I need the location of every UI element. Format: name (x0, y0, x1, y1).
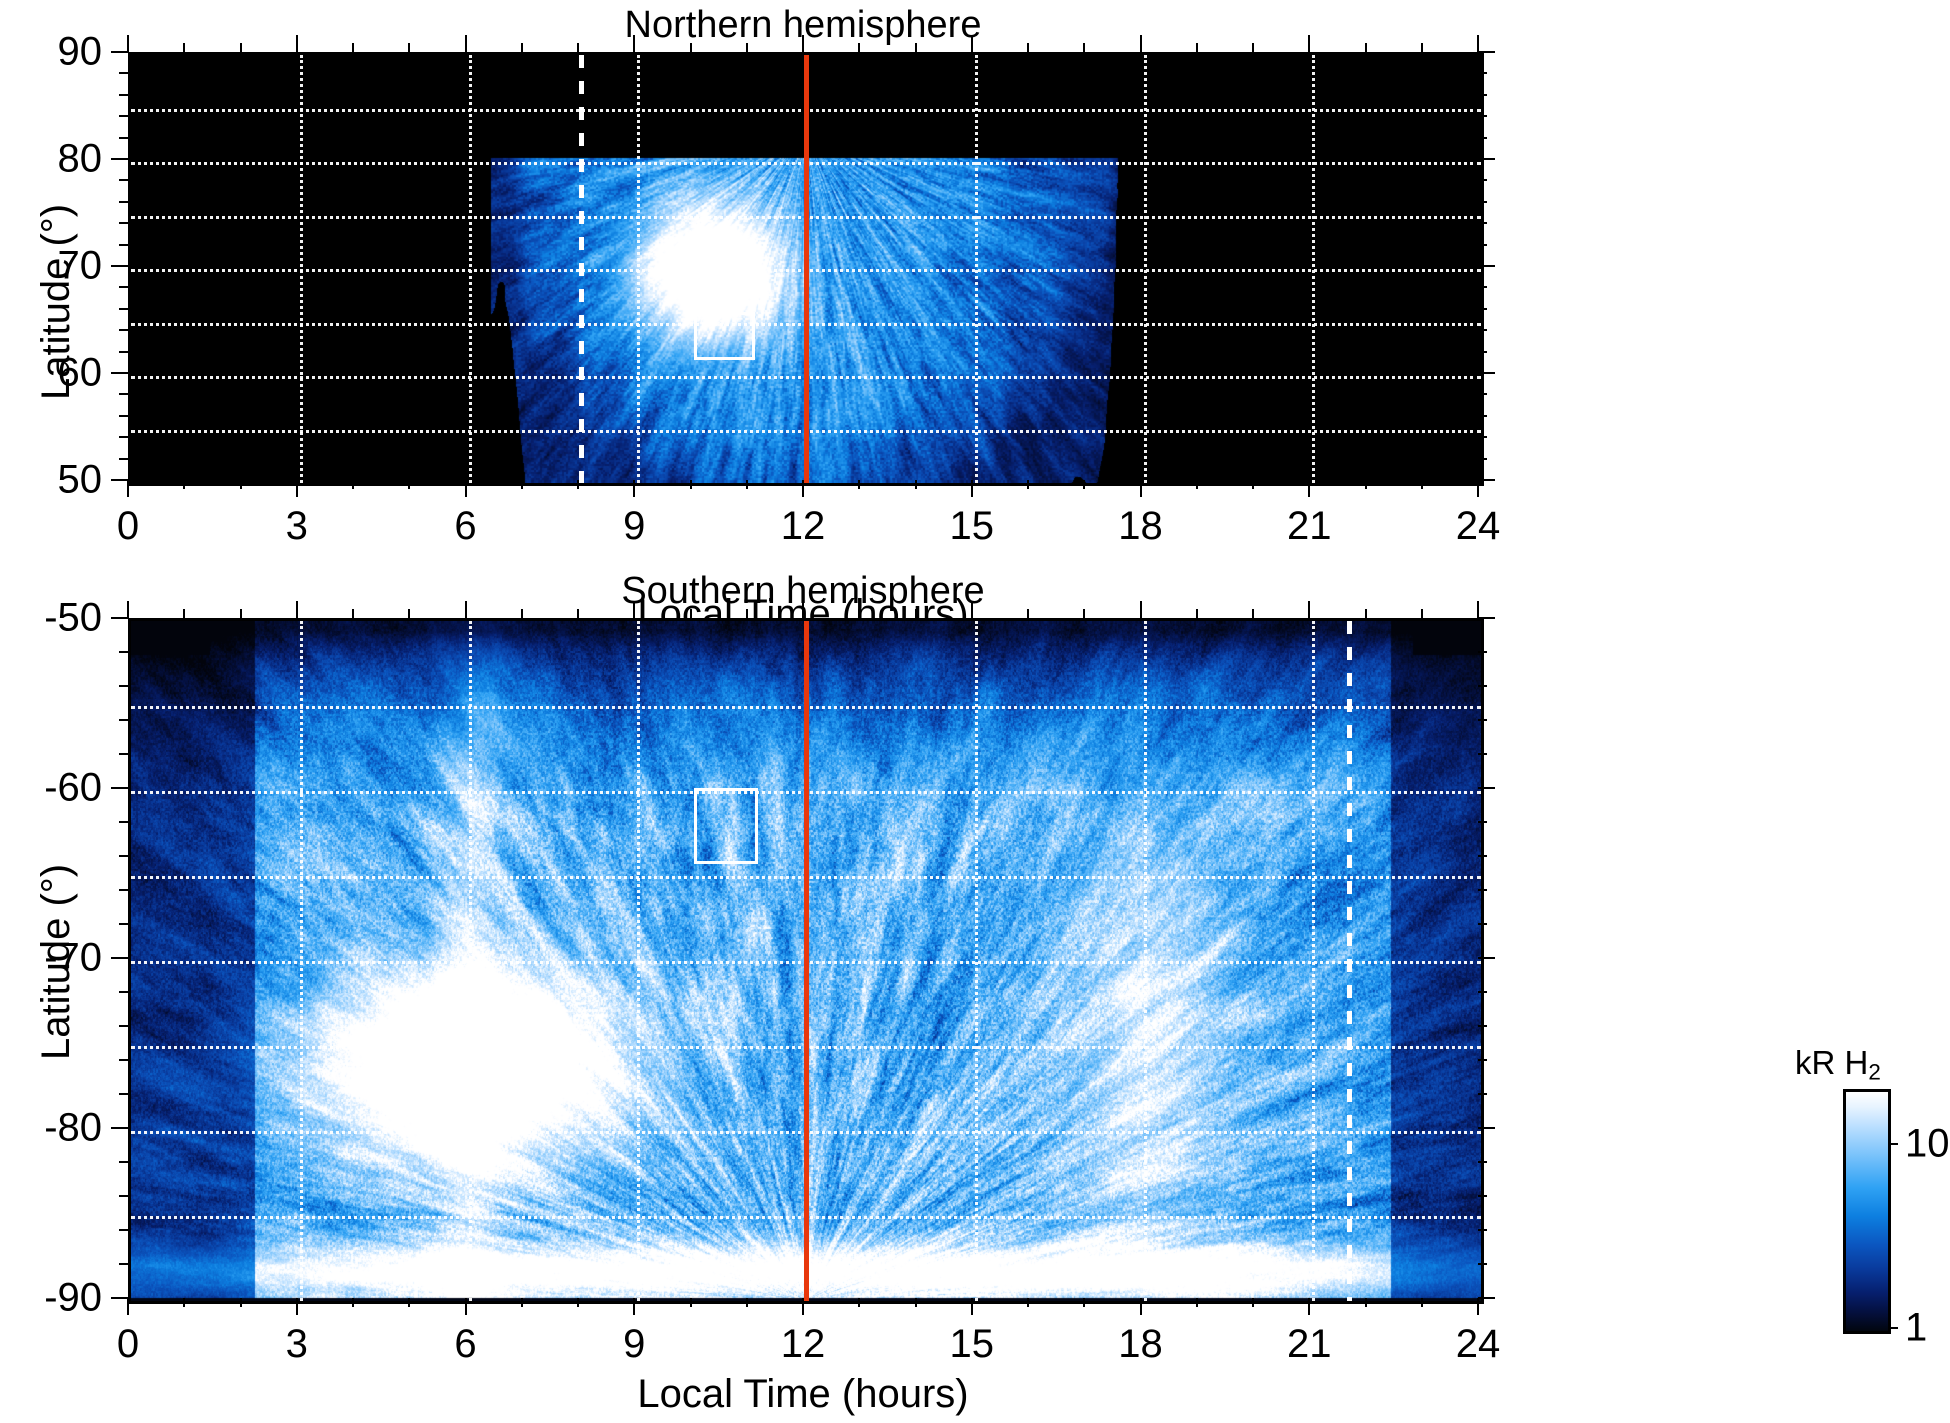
x-axis-minor-tick (1365, 1298, 1367, 1307)
x-axis-minor-tick (240, 43, 242, 52)
x-axis-minor-tick (408, 1298, 410, 1307)
colorbar[interactable] (1843, 1089, 1891, 1334)
x-axis-minor-tick (1421, 1298, 1423, 1307)
x-axis-minor-tick (352, 1298, 354, 1307)
y-axis-minor-tick (1478, 308, 1487, 310)
north-plot-area[interactable] (128, 52, 1484, 486)
x-axis-minor-tick (408, 609, 410, 618)
y-axis-minor-tick (119, 308, 128, 310)
y-axis-minor-tick (119, 436, 128, 438)
y-axis-minor-tick (1478, 1263, 1487, 1265)
y-axis-minor-tick (1478, 265, 1487, 267)
y-axis-minor-tick (119, 1161, 128, 1163)
south-plot-area[interactable] (128, 618, 1484, 1304)
y-axis-minor-tick (1478, 329, 1487, 331)
x-axis-minor-tick (1083, 480, 1085, 489)
x-axis-minor-tick (240, 609, 242, 618)
y-axis-minor-tick (119, 787, 128, 789)
x-axis-minor-tick (1421, 609, 1423, 618)
x-axis-tick-label: 18 (1118, 504, 1163, 549)
x-axis-minor-tick (1365, 609, 1367, 618)
y-axis-minor-tick (119, 115, 128, 117)
x-axis-minor-tick (633, 1298, 635, 1307)
x-axis-minor-tick (521, 480, 523, 489)
x-axis-minor-tick (915, 609, 917, 618)
x-axis-minor-tick (127, 480, 129, 489)
x-axis-minor-tick (183, 609, 185, 618)
x-axis-minor-tick (1252, 43, 1254, 52)
x-axis-tick-label: 9 (623, 1322, 645, 1367)
y-axis-tick-label: 50 (18, 458, 102, 503)
x-axis-minor-tick (1083, 43, 1085, 52)
y-axis-minor-tick (1478, 685, 1487, 687)
x-axis-tick-label: 12 (781, 1322, 826, 1367)
y-axis-minor-tick (1478, 651, 1487, 653)
x-axis-minor-tick (1027, 609, 1029, 618)
y-axis-minor-tick (1478, 1229, 1487, 1231)
y-axis-minor-tick (119, 479, 128, 481)
x-axis-minor-tick (1027, 43, 1029, 52)
y-axis-minor-tick (1478, 351, 1487, 353)
x-axis-minor-tick (1252, 480, 1254, 489)
x-axis-minor-tick (802, 43, 804, 52)
x-axis-minor-tick (296, 480, 298, 489)
y-axis-minor-tick (119, 415, 128, 417)
x-axis-minor-tick (183, 43, 185, 52)
x-axis-minor-tick (746, 480, 748, 489)
colorbar-tick-label: 10 (1905, 1122, 1950, 1167)
x-axis-tick-label: 6 (454, 1322, 476, 1367)
y-axis-minor-tick (1478, 1059, 1487, 1061)
y-axis-minor-tick (1478, 393, 1487, 395)
y-axis-tick-label: 80 (18, 137, 102, 182)
x-axis-minor-tick (971, 43, 973, 52)
y-axis-minor-tick (1478, 957, 1487, 959)
y-axis-minor-tick (1478, 222, 1487, 224)
y-axis-minor-tick (119, 179, 128, 181)
x-axis-minor-tick (352, 43, 354, 52)
y-axis-minor-tick (1478, 436, 1487, 438)
y-axis-minor-tick (119, 685, 128, 687)
x-axis-minor-tick (352, 609, 354, 618)
x-axis-minor-tick (690, 480, 692, 489)
x-axis-minor-tick (465, 43, 467, 52)
x-axis-minor-tick (1308, 480, 1310, 489)
y-axis-tick-label: 60 (18, 351, 102, 396)
y-axis-minor-tick (1478, 1127, 1487, 1129)
x-axis-minor-tick (521, 43, 523, 52)
x-axis-tick-label: 12 (781, 504, 826, 549)
y-axis-minor-tick (1478, 1195, 1487, 1197)
x-axis-minor-tick (1196, 43, 1198, 52)
y-axis-minor-tick (1478, 244, 1487, 246)
x-axis-minor-tick (802, 609, 804, 618)
y-axis-minor-tick (1478, 991, 1487, 993)
y-axis-minor-tick (119, 222, 128, 224)
x-axis-minor-tick (577, 43, 579, 52)
y-axis-minor-tick (1478, 855, 1487, 857)
x-axis-minor-tick (746, 609, 748, 618)
x-axis-minor-tick (1252, 609, 1254, 618)
y-axis-minor-tick (119, 923, 128, 925)
x-axis-tick-label: 0 (117, 1322, 139, 1367)
y-axis-minor-tick (119, 201, 128, 203)
x-axis-minor-tick (1140, 1298, 1142, 1307)
y-axis-minor-tick (119, 1059, 128, 1061)
y-axis-minor-tick (1478, 51, 1487, 53)
y-axis-minor-tick (1478, 821, 1487, 823)
y-axis-tick-label: -90 (18, 1276, 102, 1321)
y-axis-minor-tick (119, 1025, 128, 1027)
y-axis-tick-label: -60 (18, 766, 102, 811)
y-axis-minor-tick (119, 1093, 128, 1095)
y-axis-minor-tick (119, 351, 128, 353)
x-axis-minor-tick (858, 609, 860, 618)
y-axis-minor-tick (1478, 923, 1487, 925)
x-axis-minor-tick (183, 1298, 185, 1307)
x-axis-minor-tick (183, 480, 185, 489)
y-axis-minor-tick (1478, 479, 1487, 481)
x-axis-minor-tick (915, 1298, 917, 1307)
y-axis-minor-tick (1478, 115, 1487, 117)
y-axis-tick-label: -70 (18, 936, 102, 981)
y-axis-minor-tick (1478, 719, 1487, 721)
colorbar-tick (1888, 1327, 1898, 1329)
dashed-marker-line (579, 55, 584, 483)
x-axis-minor-tick (633, 609, 635, 618)
noon-marker-line (804, 621, 809, 1301)
x-axis-minor-tick (1308, 609, 1310, 618)
x-axis-minor-tick (521, 1298, 523, 1307)
x-axis-tick-label: 0 (117, 504, 139, 549)
x-axis-minor-tick (971, 480, 973, 489)
y-axis-minor-tick (119, 329, 128, 331)
x-axis-minor-tick (1308, 1298, 1310, 1307)
y-axis-minor-tick (1478, 889, 1487, 891)
figure-root: Northern hemisphere Local Time (hours) L… (0, 0, 1950, 1423)
x-axis-minor-tick (1196, 609, 1198, 618)
y-axis-minor-tick (119, 158, 128, 160)
y-axis-minor-tick (1478, 286, 1487, 288)
x-axis-tick-label: 21 (1287, 504, 1332, 549)
y-axis-minor-tick (1478, 372, 1487, 374)
x-axis-minor-tick (746, 1298, 748, 1307)
y-axis-minor-tick (119, 651, 128, 653)
y-axis-minor-tick (119, 265, 128, 267)
y-axis-minor-tick (119, 393, 128, 395)
x-axis-minor-tick (971, 609, 973, 618)
y-axis-minor-tick (1478, 72, 1487, 74)
y-axis-minor-tick (119, 1229, 128, 1231)
region-of-interest-box (694, 312, 756, 360)
x-axis-minor-tick (240, 1298, 242, 1307)
y-axis-minor-tick (1478, 753, 1487, 755)
colorbar-tick (1888, 1143, 1898, 1145)
y-axis-tick-label: 70 (18, 244, 102, 289)
y-axis-minor-tick (119, 889, 128, 891)
y-axis-minor-tick (119, 991, 128, 993)
x-axis-tick-label: 6 (454, 504, 476, 549)
y-axis-minor-tick (1478, 787, 1487, 789)
y-axis-minor-tick (119, 719, 128, 721)
x-axis-minor-tick (352, 480, 354, 489)
x-axis-minor-tick (1140, 43, 1142, 52)
y-axis-minor-tick (1478, 94, 1487, 96)
y-axis-tick-label: 90 (18, 30, 102, 75)
x-axis-minor-tick (858, 480, 860, 489)
x-axis-minor-tick (1083, 1298, 1085, 1307)
y-axis-minor-tick (1478, 1025, 1487, 1027)
x-axis-tick-label: 9 (623, 504, 645, 549)
y-axis-tick-label: -80 (18, 1106, 102, 1151)
x-axis-minor-tick (1365, 43, 1367, 52)
x-axis-minor-tick (802, 480, 804, 489)
x-axis-minor-tick (465, 1298, 467, 1307)
y-axis-minor-tick (1478, 458, 1487, 460)
x-axis-minor-tick (858, 43, 860, 52)
x-axis-tick-label: 3 (286, 1322, 308, 1367)
x-axis-minor-tick (1477, 1298, 1479, 1307)
colorbar-title-subscript: 2 (1868, 1060, 1880, 1085)
x-axis-tick-label: 18 (1118, 1322, 1163, 1367)
x-axis-minor-tick (915, 43, 917, 52)
y-axis-minor-tick (119, 137, 128, 139)
x-axis-minor-tick (240, 480, 242, 489)
region-of-interest-box (694, 788, 759, 865)
y-axis-minor-tick (119, 372, 128, 374)
x-axis-minor-tick (1027, 1298, 1029, 1307)
y-axis-minor-tick (119, 1297, 128, 1299)
y-axis-minor-tick (119, 1195, 128, 1197)
y-axis-minor-tick (1478, 158, 1487, 160)
x-axis-minor-tick (1196, 1298, 1198, 1307)
y-axis-minor-tick (1478, 137, 1487, 139)
south-xaxis-title: Local Time (hours) (128, 1372, 1478, 1417)
x-axis-tick-label: 15 (950, 1322, 995, 1367)
y-axis-minor-tick (119, 51, 128, 53)
x-axis-minor-tick (802, 1298, 804, 1307)
y-axis-minor-tick (119, 94, 128, 96)
y-axis-minor-tick (119, 244, 128, 246)
x-axis-minor-tick (577, 1298, 579, 1307)
x-axis-minor-tick (1252, 1298, 1254, 1307)
x-axis-minor-tick (1421, 480, 1423, 489)
x-axis-minor-tick (1365, 480, 1367, 489)
y-axis-tick-label: -50 (18, 596, 102, 641)
y-axis-minor-tick (1478, 617, 1487, 619)
y-axis-minor-tick (119, 855, 128, 857)
y-axis-minor-tick (119, 1127, 128, 1129)
y-axis-minor-tick (119, 617, 128, 619)
y-axis-minor-tick (119, 72, 128, 74)
y-axis-minor-tick (119, 286, 128, 288)
x-axis-minor-tick (521, 609, 523, 618)
x-axis-tick-label: 3 (286, 504, 308, 549)
y-axis-minor-tick (1478, 415, 1487, 417)
x-axis-minor-tick (1421, 43, 1423, 52)
x-axis-minor-tick (465, 609, 467, 618)
x-axis-minor-tick (465, 480, 467, 489)
x-axis-tick-label: 21 (1287, 1322, 1332, 1367)
x-axis-minor-tick (296, 1298, 298, 1307)
x-axis-minor-tick (633, 480, 635, 489)
colorbar-gradient (1846, 1092, 1888, 1331)
y-axis-minor-tick (1478, 1093, 1487, 1095)
y-axis-minor-tick (119, 458, 128, 460)
y-axis-minor-tick (119, 1263, 128, 1265)
x-axis-tick-label: 15 (950, 504, 995, 549)
y-axis-minor-tick (1478, 201, 1487, 203)
x-axis-minor-tick (971, 1298, 973, 1307)
x-axis-minor-tick (1083, 609, 1085, 618)
noon-marker-line (804, 55, 809, 483)
x-axis-minor-tick (296, 43, 298, 52)
x-axis-minor-tick (296, 609, 298, 618)
y-axis-minor-tick (119, 957, 128, 959)
colorbar-title: kR H2 (1795, 1044, 1881, 1086)
colorbar-tick-label: 1 (1905, 1306, 1927, 1351)
y-axis-minor-tick (1478, 1297, 1487, 1299)
x-axis-minor-tick (1027, 480, 1029, 489)
x-axis-minor-tick (1477, 480, 1479, 489)
x-axis-minor-tick (915, 480, 917, 489)
x-axis-minor-tick (408, 43, 410, 52)
x-axis-minor-tick (1196, 480, 1198, 489)
x-axis-minor-tick (1140, 609, 1142, 618)
x-axis-minor-tick (1308, 43, 1310, 52)
x-axis-minor-tick (690, 609, 692, 618)
x-axis-minor-tick (858, 1298, 860, 1307)
x-axis-minor-tick (1140, 480, 1142, 489)
y-axis-minor-tick (1478, 1161, 1487, 1163)
dashed-marker-line (1347, 621, 1352, 1301)
x-axis-minor-tick (127, 1298, 129, 1307)
y-axis-minor-tick (1478, 179, 1487, 181)
x-axis-tick-label: 24 (1456, 1322, 1501, 1367)
y-axis-minor-tick (119, 753, 128, 755)
x-axis-minor-tick (633, 43, 635, 52)
x-axis-minor-tick (690, 43, 692, 52)
y-axis-minor-tick (119, 821, 128, 823)
x-axis-tick-label: 24 (1456, 504, 1501, 549)
x-axis-minor-tick (746, 43, 748, 52)
colorbar-title-text: kR H (1795, 1044, 1868, 1081)
x-axis-minor-tick (690, 1298, 692, 1307)
x-axis-minor-tick (577, 480, 579, 489)
x-axis-minor-tick (577, 609, 579, 618)
x-axis-minor-tick (408, 480, 410, 489)
